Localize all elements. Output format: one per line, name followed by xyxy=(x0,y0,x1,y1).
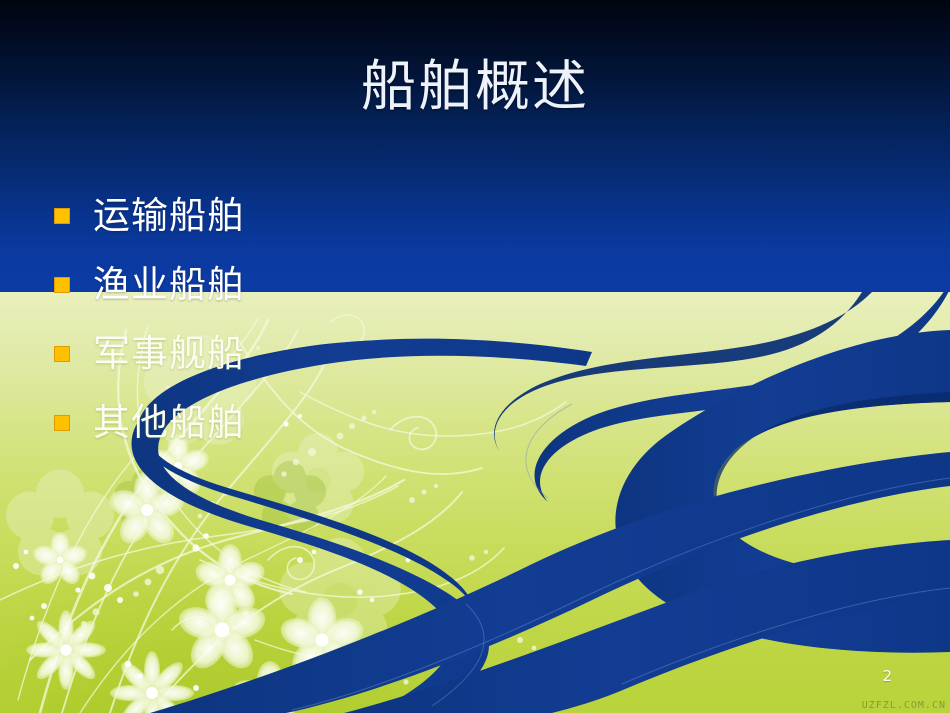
list-item[interactable]: 其他船舶 xyxy=(54,388,474,457)
presentation-slide: 船舶概述 运输船舶 渔业船舶 军事舰船 其他船舶 2 UZFZL.COM.CN xyxy=(0,0,950,713)
square-bullet-icon xyxy=(54,346,70,362)
list-item-label: 其他船舶 xyxy=(93,401,245,445)
list-item[interactable]: 运输船舶 xyxy=(54,181,474,250)
list-item-label: 渔业船舶 xyxy=(93,263,245,307)
bullet-list: 运输船舶 渔业船舶 军事舰船 其他船舶 xyxy=(54,181,474,457)
square-bullet-icon xyxy=(54,277,70,293)
list-item[interactable]: 渔业船舶 xyxy=(54,250,474,319)
square-bullet-icon xyxy=(54,415,70,431)
page-number: 2 xyxy=(882,667,892,685)
slide-title: 船舶概述 xyxy=(0,50,950,122)
watermark: UZFZL.COM.CN xyxy=(862,700,946,711)
list-item-label: 运输船舶 xyxy=(93,194,245,238)
square-bullet-icon xyxy=(54,208,70,224)
list-item-label: 军事舰船 xyxy=(93,332,245,376)
list-item[interactable]: 军事舰船 xyxy=(54,319,474,388)
